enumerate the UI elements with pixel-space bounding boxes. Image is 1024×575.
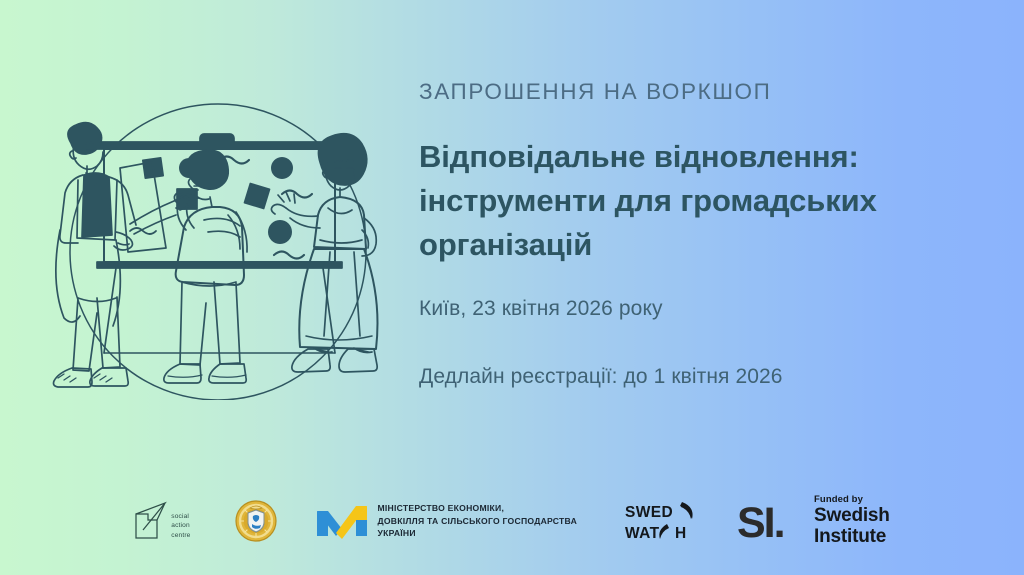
page-title-line-3: організацій: [419, 223, 989, 267]
logo-swedwatch: SWED WAT H: [623, 499, 697, 543]
swedish-institute-name: Swedish Institute: [814, 506, 890, 547]
sac-line-1: social: [171, 512, 190, 521]
svg-text:SI.: SI.: [737, 499, 784, 543]
logo-swedish-institute: SI. Funded by Swedish Institute: [737, 495, 890, 548]
social-action-centre-wordmark: social action centre: [171, 512, 190, 541]
svg-text:WAT: WAT: [625, 525, 660, 542]
si-line-1: Swedish: [814, 506, 890, 527]
svg-text:SWED: SWED: [625, 504, 673, 521]
swedwatch-wordmark-icon: SWED WAT H: [623, 499, 697, 543]
partner-logo-bar: social action centre: [0, 485, 1024, 557]
swedish-institute-si-mark-icon: SI.: [737, 499, 803, 543]
registration-deadline: Дедлайн реєстрації: до 1 квітня 2026: [419, 365, 989, 389]
ministry-m-mark-icon: [315, 502, 369, 540]
logo-state-emblem: [235, 500, 277, 542]
sac-line-2: action: [171, 521, 190, 530]
workshop-people-flipchart-illustration: [42, 100, 394, 400]
page-title: Відповідальне відновлення: інструменти д…: [419, 135, 989, 267]
page-title-line-2: інструменти для громадських: [419, 179, 989, 223]
social-action-centre-mark-icon: [134, 501, 168, 541]
swedish-institute-wordmark: Funded by Swedish Institute: [814, 495, 890, 548]
logo-ministry-of-economy: МІНІСТЕРСТВО ЕКОНОМІКИ, ДОВКІЛЛЯ ТА СІЛЬ…: [315, 502, 578, 541]
si-line-2: Institute: [814, 527, 890, 548]
state-emblem-icon: [235, 500, 277, 542]
invitation-text-column: ЗАПРОШЕННЯ НА ВОРКШОП Відповідальне відн…: [419, 78, 989, 389]
logo-social-action-centre: social action centre: [134, 501, 190, 541]
eyebrow-label: ЗАПРОШЕННЯ НА ВОРКШОП: [419, 78, 989, 105]
ministry-wordmark: МІНІСТЕРСТВО ЕКОНОМІКИ, ДОВКІЛЛЯ ТА СІЛЬ…: [378, 502, 578, 541]
ministry-line-1: МІНІСТЕРСТВО ЕКОНОМІКИ,: [378, 502, 578, 515]
invitation-banner: ЗАПРОШЕННЯ НА ВОРКШОП Відповідальне відн…: [0, 0, 1024, 575]
ministry-line-3: УКРАЇНИ: [378, 527, 578, 540]
swedish-institute-funded-by: Funded by: [814, 495, 890, 505]
sac-line-3: centre: [171, 531, 190, 540]
svg-text:H: H: [675, 525, 686, 542]
page-title-line-1: Відповідальне відновлення:: [419, 135, 989, 179]
event-date-location: Київ, 23 квітня 2026 року: [419, 297, 989, 321]
ministry-line-2: ДОВКІЛЛЯ ТА СІЛЬСЬКОГО ГОСПОДАРСТВА: [378, 515, 578, 528]
